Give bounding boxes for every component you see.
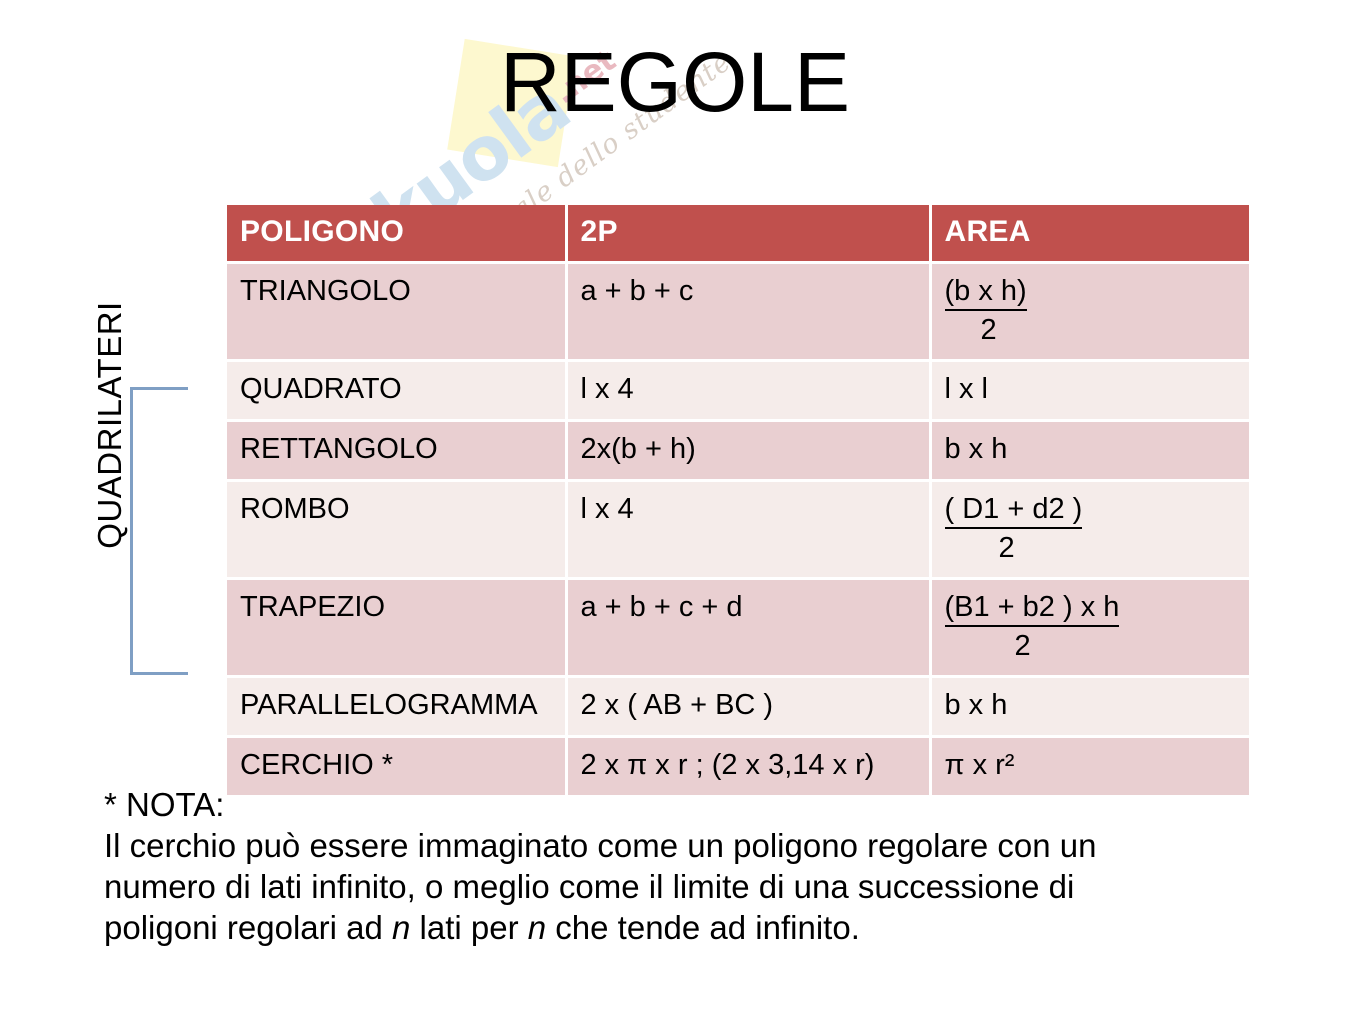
cell-area: ( D1 + d2 ) 2	[930, 481, 1249, 579]
cell-poligono: RETTANGOLO	[227, 421, 566, 481]
area-numerator: (b x h)	[945, 273, 1027, 311]
cell-perimetro: 2x(b + h)	[566, 421, 930, 481]
area-numerator: (B1 + b2 ) x h	[945, 589, 1120, 627]
column-header-poligono: POLIGONO	[227, 205, 566, 263]
column-header-area: AREA	[930, 205, 1249, 263]
cell-perimetro: a + b + c	[566, 263, 930, 361]
cell-perimetro: a + b + c + d	[566, 579, 930, 677]
table-row: RETTANGOLO 2x(b + h) b x h	[227, 421, 1249, 481]
cell-poligono: TRAPEZIO	[227, 579, 566, 677]
nota-line-2: numero di lati infinito, o meglio come i…	[104, 866, 1304, 907]
table-row: TRIANGOLO a + b + c (b x h) 2	[227, 263, 1249, 361]
cell-perimetro: l x 4	[566, 481, 930, 579]
nota-line-1: Il cerchio può essere immaginato come un…	[104, 825, 1304, 866]
nota-variable-n: n	[528, 909, 546, 946]
formula-table: POLIGONO 2P AREA TRIANGOLO a + b + c (b …	[227, 205, 1249, 798]
cell-perimetro: 2 x ( AB + BC )	[566, 677, 930, 737]
page-title: REGOLE	[0, 36, 1350, 128]
cell-poligono: QUADRATO	[227, 361, 566, 421]
table-row: TRAPEZIO a + b + c + d (B1 + b2 ) x h 2	[227, 579, 1249, 677]
area-denominator: 2	[945, 529, 1250, 567]
table-row: QUADRATO l x 4 l x l	[227, 361, 1249, 421]
cell-poligono: ROMBO	[227, 481, 566, 579]
nota-heading: * NOTA:	[104, 784, 1304, 825]
cell-perimetro: l x 4	[566, 361, 930, 421]
cell-area: b x h	[930, 677, 1249, 737]
cell-area: (B1 + b2 ) x h 2	[930, 579, 1249, 677]
area-denominator: 2	[945, 627, 1250, 665]
nota-variable-n: n	[392, 909, 410, 946]
table-header-row: POLIGONO 2P AREA	[227, 205, 1249, 263]
quadrilateri-label: QUADRILATERI	[87, 290, 133, 560]
area-numerator: ( D1 + d2 )	[945, 491, 1083, 529]
cell-area: b x h	[930, 421, 1249, 481]
table-row: PARALLELOGRAMMA 2 x ( AB + BC ) b x h	[227, 677, 1249, 737]
slide-canvas: skuola.net il portale dello studente REG…	[0, 0, 1350, 1013]
cell-area: (b x h) 2	[930, 263, 1249, 361]
nota-block: * NOTA: Il cerchio può essere immaginato…	[104, 784, 1304, 948]
cell-area: l x l	[930, 361, 1249, 421]
area-denominator: 2	[945, 311, 1250, 349]
cell-poligono: PARALLELOGRAMMA	[227, 677, 566, 737]
table-row: ROMBO l x 4 ( D1 + d2 ) 2	[227, 481, 1249, 579]
column-header-2p: 2P	[566, 205, 930, 263]
cell-poligono: TRIANGOLO	[227, 263, 566, 361]
nota-line-3: poligoni regolari ad n lati per n che te…	[104, 907, 1304, 948]
quadrilateri-bracket	[130, 387, 188, 675]
